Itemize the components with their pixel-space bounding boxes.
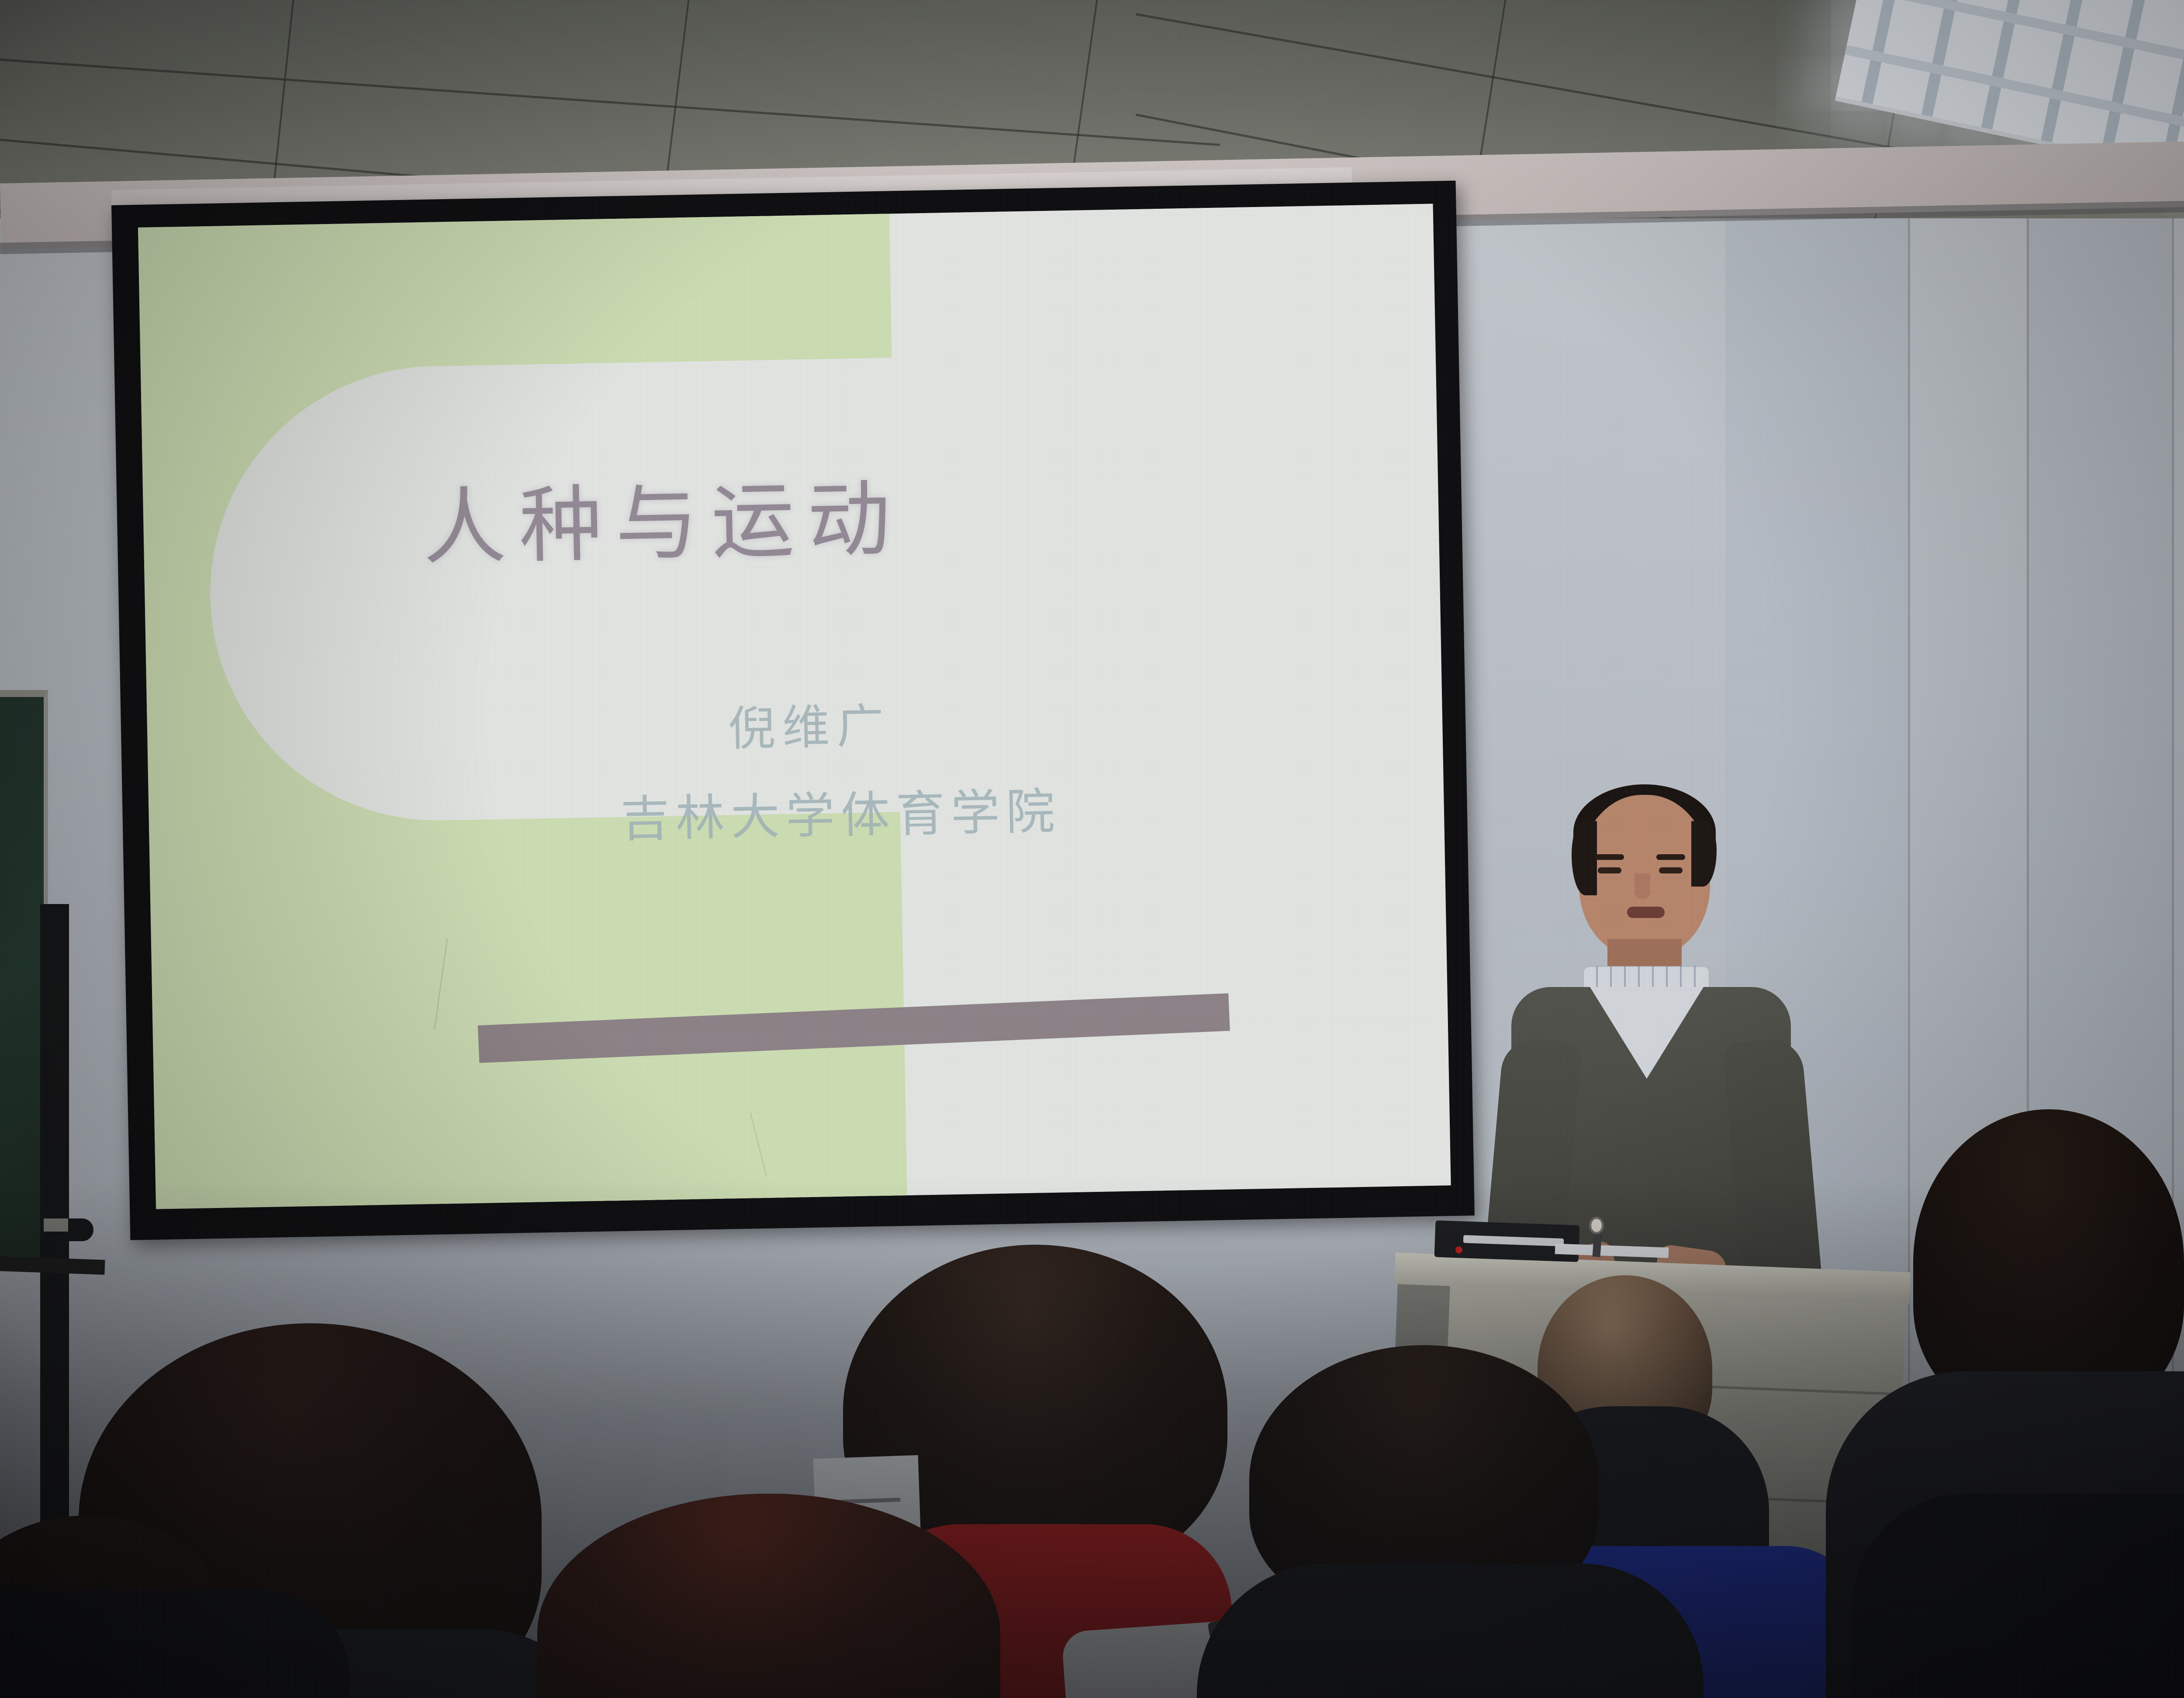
- presenter-nose: [1635, 873, 1650, 899]
- presenter-mouth: [1627, 907, 1665, 918]
- slide-green-notch-top: [575, 214, 892, 363]
- foreground-silhouette-left: [0, 1590, 349, 1698]
- presenter-brow-left: [1595, 854, 1624, 860]
- slide-presenter-name: 倪维广: [728, 703, 891, 753]
- presenter-brow-right: [1656, 854, 1685, 860]
- chalkboard-clip-icon: [44, 1218, 68, 1232]
- presenter-eye-left: [1598, 867, 1621, 873]
- projection-screen-surface: 人种与运动 倪维广 吉林大学体育学院: [138, 204, 1451, 1209]
- projection-screen-frame: 人种与运动 倪维广 吉林大学体育学院: [111, 181, 1475, 1240]
- attendee-hair: [537, 1494, 1000, 1698]
- lecture-room-photo: 人种与运动 倪维广 吉林大学体育学院: [0, 0, 2184, 1698]
- slide-title: 人种与运动: [422, 471, 1166, 572]
- attendee-torso: [1197, 1563, 1704, 1698]
- list-item: [537, 1494, 1000, 1698]
- presenter-hair-left: [1572, 821, 1597, 895]
- presenter-hair-right: [1691, 821, 1717, 887]
- presenter-vneck-opening: [1590, 987, 1704, 1079]
- power-led-icon: [1455, 1246, 1462, 1253]
- attendee-hair: [1913, 1109, 2184, 1415]
- presenter-eye-right: [1659, 867, 1683, 873]
- slide-green-notch-bottom: [586, 812, 907, 1202]
- foreground-silhouette-right: [1852, 1494, 2184, 1698]
- slide-affiliation: 吉林大学体育学院: [620, 787, 1061, 844]
- microphone-icon[interactable]: [1589, 1217, 1604, 1234]
- list-item: [1214, 1345, 1651, 1698]
